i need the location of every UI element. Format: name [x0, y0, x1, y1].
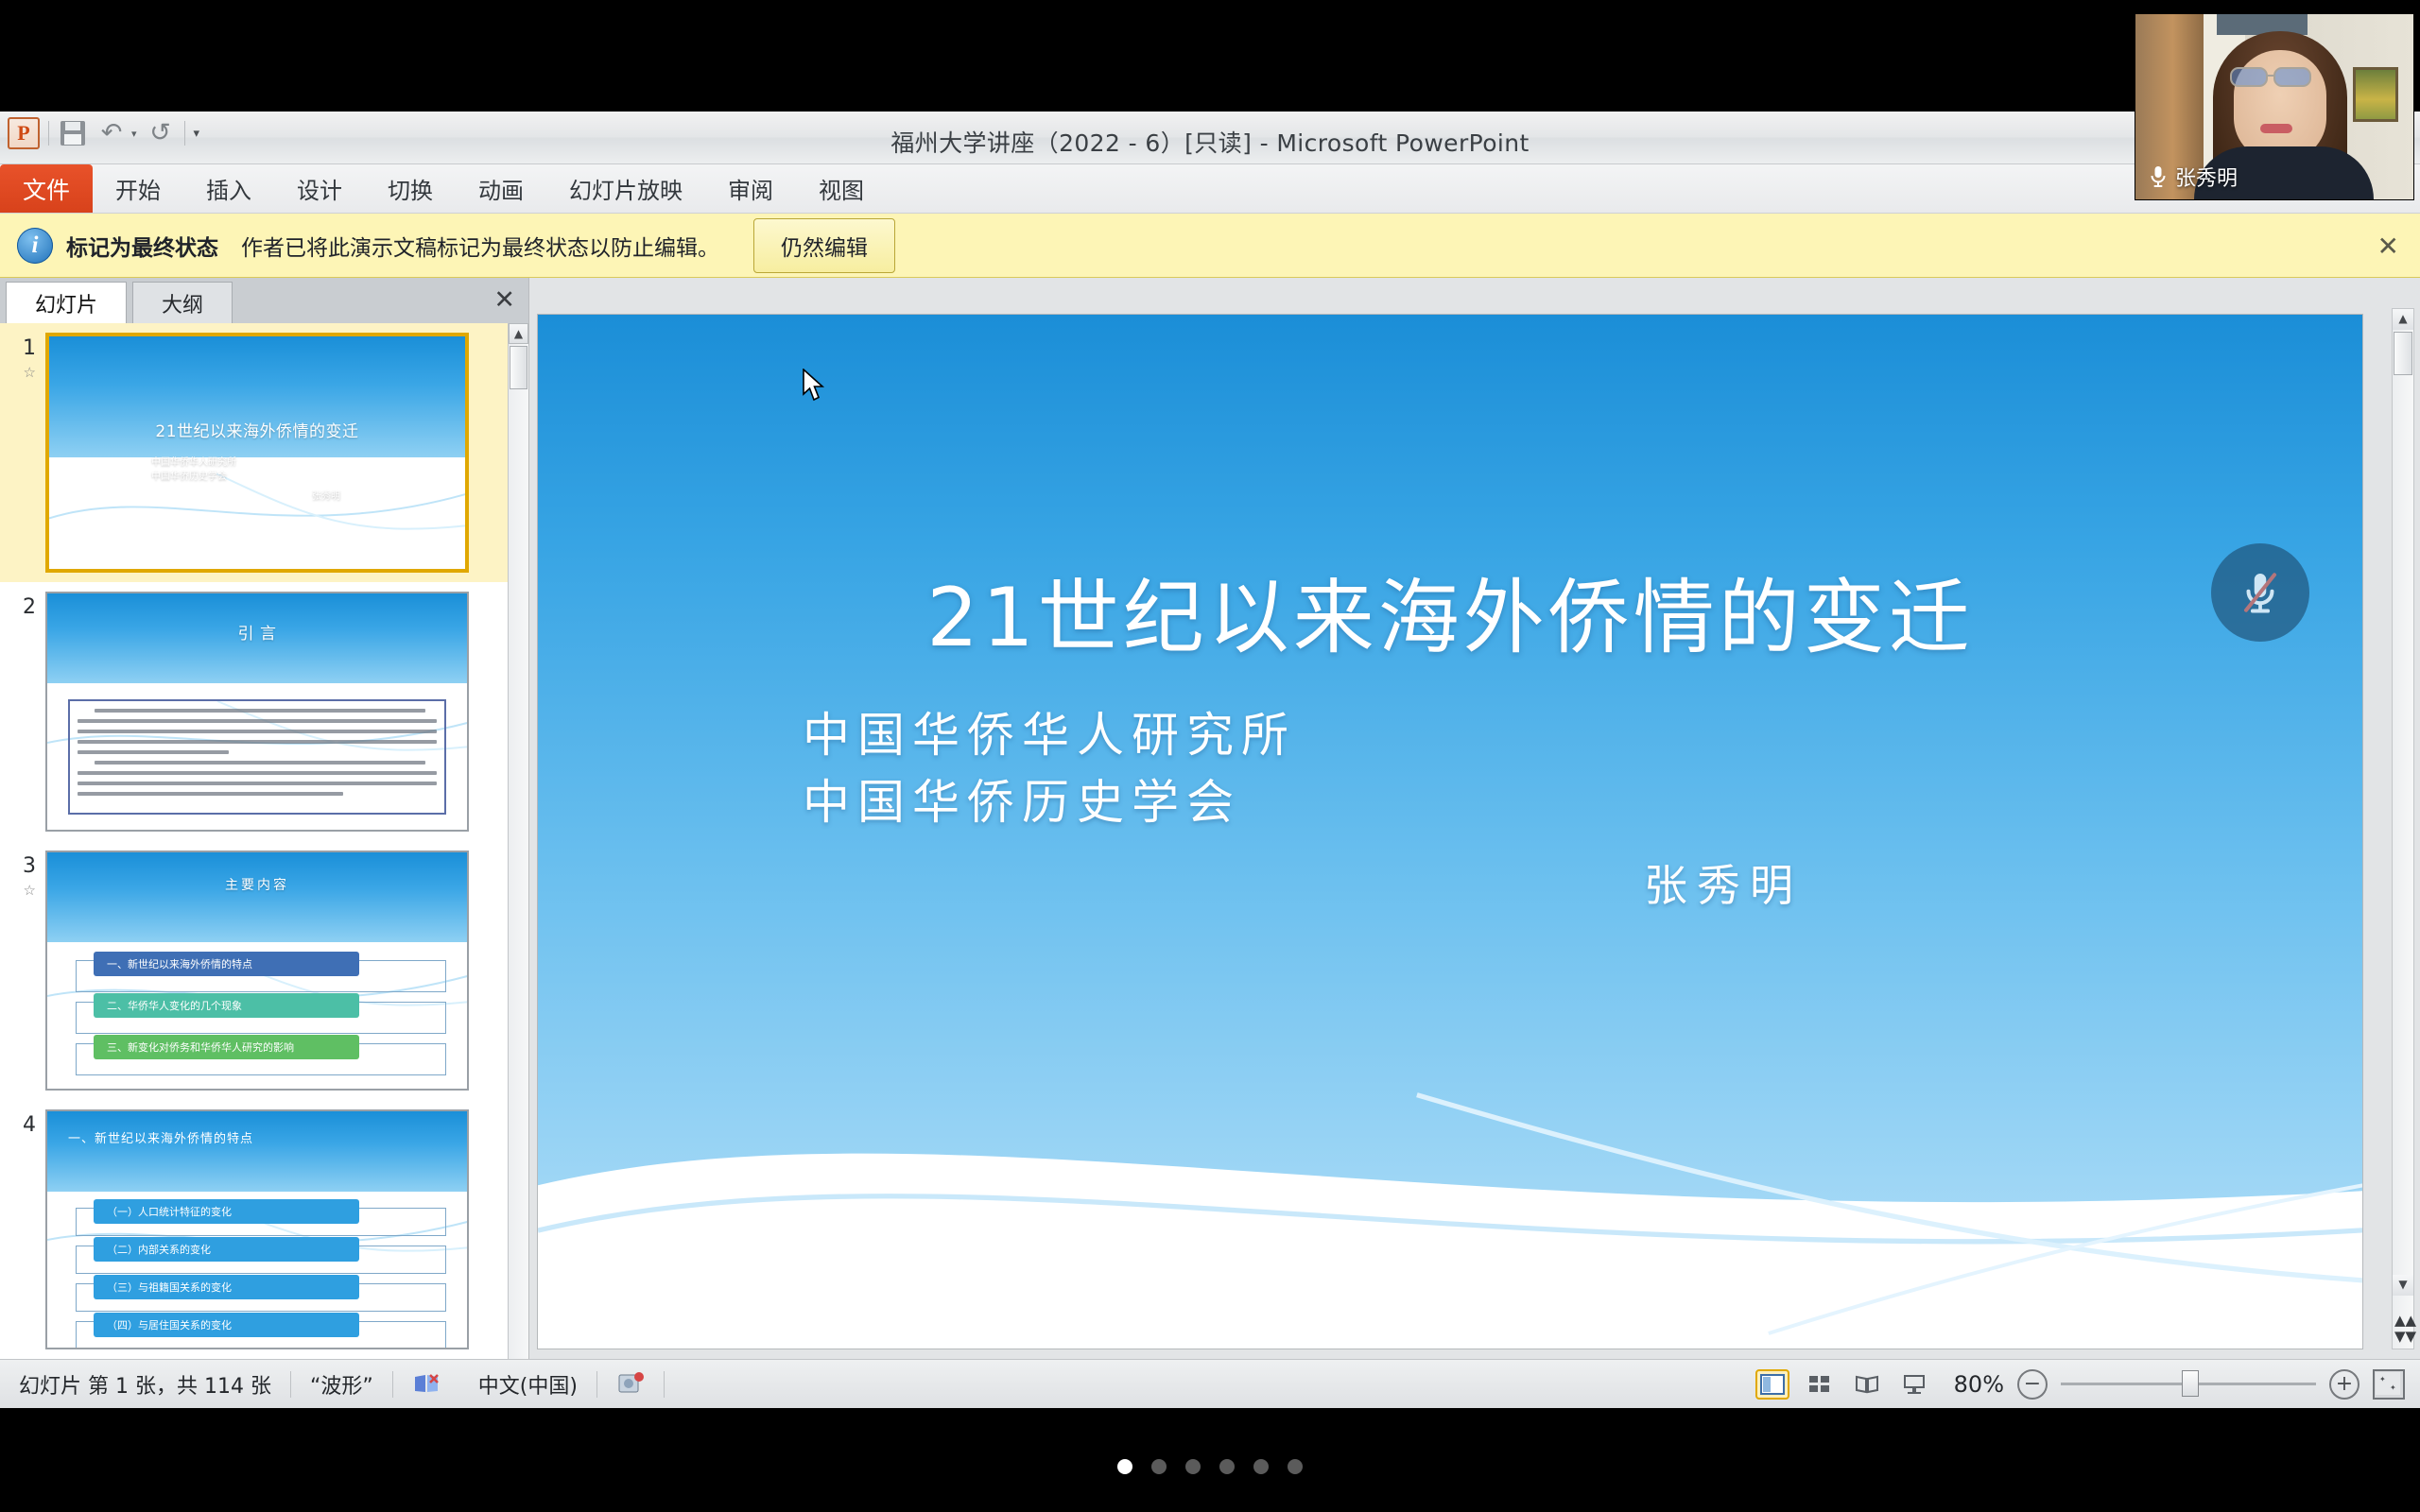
thumb-bar-3: （三）与祖籍国关系的变化 [76, 1283, 446, 1312]
tab-animations[interactable]: 动画 [456, 164, 546, 213]
thumb-title: 21世纪以来海外侨情的变迁 [49, 418, 465, 441]
animation-star-icon: ☆ [6, 882, 36, 899]
thumb-bar-3: 三、新变化对侨务和华侨华人研究的影响 [76, 1043, 446, 1075]
slideshow-view-button[interactable] [1897, 1369, 1931, 1400]
ribbon-tabs: 文件 开始 插入 设计 切换 动画 幻灯片放映 审阅 视图 [0, 164, 2420, 214]
page-dot-2[interactable] [1151, 1459, 1167, 1474]
fit-to-window-icon[interactable]: ✦ ✦ [2373, 1369, 2405, 1400]
thumbnail-list[interactable]: 1 ☆ 21世纪以来海外侨情的变迁 [0, 323, 508, 1408]
webcam-person-lips [2260, 124, 2292, 133]
zoom-in-button[interactable]: + [2329, 1369, 2359, 1400]
thumb-heading: 一、新世纪以来海外侨情的特点 [68, 1128, 253, 1146]
webcam-wall-picture [2353, 67, 2398, 122]
microphone-muted-icon[interactable] [2211, 543, 2309, 642]
participant-name: 张秀明 [2175, 162, 2238, 192]
webcam-glasses-bridge [2268, 75, 2275, 77]
thumbnail-slide-4[interactable]: 4 一、新世纪以来海外侨情的特点 [0, 1100, 508, 1359]
screen: P ↶ ▾ ↺ ▾ 福州大学讲座（2022 - 6）[只读] - Microso… [0, 0, 2420, 1512]
thumb-text-block [68, 699, 446, 815]
slide-thumbnail-pane: 幻灯片 大纲 ✕ 1 ☆ [0, 278, 529, 1408]
thumbnail-number: 2 [6, 592, 45, 832]
thumbnail-image: 21世纪以来海外侨情的变迁 中国华侨华人研究所 中国华侨历史学会 张秀明 [45, 333, 469, 573]
webcam-glasses-right [2273, 67, 2311, 87]
thumb-author: 张秀明 [312, 488, 340, 502]
slide-count-label: 幻灯片 第 1 张，共 114 张 [0, 1369, 290, 1400]
normal-view-button[interactable] [1755, 1369, 1789, 1400]
tab-slides[interactable]: 幻灯片 [6, 282, 127, 323]
close-pane-icon[interactable]: ✕ [493, 285, 515, 315]
edit-anyway-button[interactable]: 仍然编辑 [753, 218, 895, 273]
tab-view[interactable]: 视图 [796, 164, 887, 213]
thumbnail-slide-3[interactable]: 3 ☆ 主要内容 [0, 841, 508, 1100]
slide-title[interactable]: 21世纪以来海外侨情的变迁 [538, 551, 2362, 669]
page-dot-4[interactable] [1219, 1459, 1235, 1474]
zoom-level-label[interactable]: 80% [1954, 1371, 2004, 1398]
thumb-bar-4: （四）与居住国关系的变化 [76, 1321, 446, 1349]
thumbnail-number: 4 [6, 1109, 45, 1349]
tab-file[interactable]: 文件 [0, 164, 93, 213]
thumbnail-scrollbar[interactable]: ▲ ▼ [508, 323, 528, 1408]
status-bar: 幻灯片 第 1 张，共 114 张 “波形” 中文(中国) [0, 1359, 2420, 1408]
powerpoint-window: P ↶ ▾ ↺ ▾ 福州大学讲座（2022 - 6）[只读] - Microso… [0, 112, 2420, 1408]
current-slide[interactable]: 21世纪以来海外侨情的变迁 中国华侨华人研究所 中国华侨历史学会 张秀明 [537, 314, 2363, 1349]
title-bar: P ↶ ▾ ↺ ▾ 福州大学讲座（2022 - 6）[只读] - Microso… [0, 112, 2420, 164]
tab-design[interactable]: 设计 [274, 164, 365, 213]
thumbnail-slide-1[interactable]: 1 ☆ 21世纪以来海外侨情的变迁 [0, 323, 508, 582]
reading-view-button[interactable] [1850, 1369, 1884, 1400]
page-dot-6[interactable] [1288, 1459, 1303, 1474]
thumbnail-slide-2[interactable]: 2 引 言 [0, 582, 508, 841]
tab-transitions[interactable]: 切换 [365, 164, 456, 213]
thumb-bar-1: （一）人口统计特征的变化 [76, 1208, 446, 1236]
zoom-slider-handle[interactable] [2182, 1370, 2199, 1397]
zoom-out-button[interactable]: − [2017, 1369, 2048, 1400]
scroll-up-icon[interactable]: ▲ [509, 323, 528, 344]
scrollbar-thumb[interactable] [2394, 332, 2412, 375]
notice-message: 作者已将此演示文稿标记为最终状态以防止编辑。 [241, 230, 719, 262]
slide-author[interactable]: 张秀明 [1644, 851, 1803, 914]
thumb-heading: 主要内容 [47, 875, 467, 894]
info-icon: i [17, 228, 53, 264]
pagination-dots[interactable] [0, 1459, 2420, 1474]
thumb-subtitle: 中国华侨华人研究所 中国华侨历史学会 [151, 455, 236, 484]
scrollbar-thumb[interactable] [510, 346, 527, 389]
webcam-glasses-left [2230, 67, 2268, 87]
tab-review[interactable]: 审阅 [705, 164, 796, 213]
page-dot-1[interactable] [1117, 1459, 1132, 1474]
mouse-cursor [802, 369, 826, 408]
thumbnail-image: 引 言 [45, 592, 469, 832]
notice-title: 标记为最终状态 [66, 230, 218, 262]
window-title: 福州大学讲座（2022 - 6）[只读] - Microsoft PowerPo… [0, 125, 2420, 159]
language-label[interactable]: 中文(中国) [459, 1369, 596, 1400]
media-icon[interactable] [597, 1371, 664, 1398]
scroll-down-icon[interactable]: ▼ [2393, 1275, 2413, 1296]
close-notice-icon[interactable]: ✕ [2377, 231, 2399, 262]
zoom-slider[interactable] [2061, 1383, 2316, 1385]
slide-vertical-scrollbar[interactable]: ▲ ▼ ▲▲ ▼▼ [2392, 308, 2414, 1349]
tab-slideshow[interactable]: 幻灯片放映 [546, 164, 705, 213]
thumb-bar-1: 一、新世纪以来海外侨情的特点 [76, 960, 446, 992]
webcam-video-overlay[interactable]: 张秀明 [2135, 13, 2414, 200]
status-divider [664, 1371, 665, 1398]
spellcheck-icon[interactable] [393, 1371, 459, 1398]
thumbnail-number: 1 ☆ [6, 333, 45, 573]
slide-sorter-view-button[interactable] [1803, 1369, 1837, 1400]
thumb-heading: 引 言 [47, 620, 467, 644]
webcam-name-label: 张秀明 [2149, 162, 2238, 192]
microphone-icon [2149, 164, 2168, 189]
slide-subtitle-line-1: 中国华侨华人研究所 [803, 702, 1296, 769]
marked-as-final-bar: i 标记为最终状态 作者已将此演示文稿标记为最终状态以防止编辑。 仍然编辑 ✕ [0, 214, 2420, 278]
slide-subtitle-line-2: 中国华侨历史学会 [803, 769, 1296, 836]
thumbnail-image: 一、新世纪以来海外侨情的特点 （一）人口统计特征的变化 （二）内部关系的变化 [45, 1109, 469, 1349]
page-dot-5[interactable] [1253, 1459, 1269, 1474]
thumb-bar-2: （二）内部关系的变化 [76, 1246, 446, 1274]
status-right-group: 80% − + ✦ ✦ [1755, 1369, 2420, 1400]
tab-outline[interactable]: 大纲 [132, 282, 233, 323]
thumbnail-image: 主要内容 一、新世纪以来海外侨情的特点 二、华侨华人变化的几个现象 [45, 850, 469, 1091]
slide-wave-graphic [538, 997, 2363, 1349]
animation-star-icon: ☆ [6, 364, 36, 381]
thumbnail-number: 3 ☆ [6, 850, 45, 1091]
slide-editing-area: 21世纪以来海外侨情的变迁 中国华侨华人研究所 中国华侨历史学会 张秀明 [529, 278, 2420, 1408]
theme-name-label[interactable]: “波形” [291, 1369, 392, 1400]
scroll-up-icon[interactable]: ▲ [2393, 309, 2413, 330]
page-dot-3[interactable] [1185, 1459, 1201, 1474]
tab-home[interactable]: 开始 [93, 164, 183, 213]
next-slide-button[interactable]: ▼▼ [2394, 1329, 2411, 1345]
tab-insert[interactable]: 插入 [183, 164, 274, 213]
slide-subtitle[interactable]: 中国华侨华人研究所 中国华侨历史学会 [803, 702, 1296, 836]
pane-tab-strip: 幻灯片 大纲 ✕ [0, 278, 528, 323]
work-area: 幻灯片 大纲 ✕ 1 ☆ [0, 278, 2420, 1408]
previous-slide-button[interactable]: ▲▲ ▼▼ [2394, 1313, 2411, 1345]
thumb-bar-2: 二、华侨华人变化的几个现象 [76, 1002, 446, 1034]
svg-text:✦: ✦ [2390, 1383, 2396, 1392]
svg-text:✦: ✦ [2379, 1375, 2386, 1383]
